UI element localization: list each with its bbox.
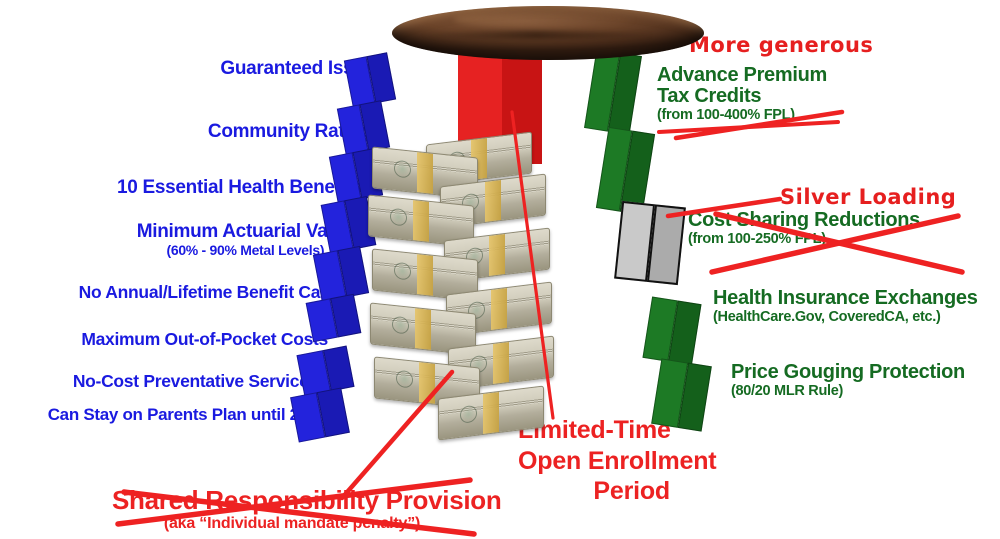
benefit-max-out-of-pocket: Maximum Out-of-Pocket Costs — [81, 330, 328, 348]
annotation-more-generous: More generous — [689, 34, 873, 56]
benefit-label: No Annual/Lifetime Benefit Caps — [79, 282, 340, 302]
benefit-label: Minimum Actuarial Value — [137, 221, 354, 242]
benefit-essential-health-benefits: 10 Essential Health Benefits — [117, 178, 362, 198]
pillar-cost-sharing-reductions: Cost Sharing Reductions (from 100-250% F… — [688, 210, 920, 247]
shared-responsibility-line2: (aka “Individual mandate penalty”) — [112, 516, 472, 533]
green-leg-segment — [651, 358, 712, 431]
blue-leg-segment — [344, 52, 396, 108]
annotation-shared-responsibility: Shared Responsibility Provision (aka “In… — [112, 487, 472, 533]
benefit-no-benefit-caps: No Annual/Lifetime Benefit Caps — [79, 283, 340, 301]
open-enrollment-line3: Period — [518, 476, 670, 507]
green-leg-segment — [584, 49, 642, 135]
cash-bundle-stack — [368, 138, 564, 434]
annotation-label: Silver Loading — [780, 185, 956, 209]
benefit-label: No-Cost Preventative Services — [73, 371, 318, 391]
pillar-advance-premium-tax-credits: Advance Premium Tax Credits (from 100-40… — [657, 65, 827, 123]
pillar-label-line1: Price Gouging Protection — [731, 361, 965, 383]
annotation-label: More generous — [689, 33, 873, 57]
benefit-label: 10 Essential Health Benefits — [117, 177, 362, 198]
blue-leg-segment — [306, 294, 362, 343]
silver-loading-block — [614, 201, 686, 285]
pillar-health-insurance-exchanges: Health Insurance Exchanges (HealthCare.G… — [713, 288, 978, 325]
benefit-label: Maximum Out-of-Pocket Costs — [81, 329, 328, 349]
benefit-label: Can Stay on Parents Plan until 26 — [48, 405, 308, 424]
blue-leg-segment — [296, 346, 354, 397]
pillar-label-line1: Cost Sharing Reductions — [688, 209, 920, 231]
stool-seat — [392, 6, 704, 60]
pillar-label-line1: Health Insurance Exchanges — [713, 287, 978, 309]
pillar-sublabel-struck: (from 100-250% FPL) — [688, 232, 920, 247]
annotation-silver-loading: Silver Loading — [780, 186, 956, 208]
benefit-parents-plan-26: Can Stay on Parents Plan until 26 — [48, 406, 308, 424]
pillar-sublabel-struck: (from 100-400% FPL) — [657, 108, 827, 123]
pillar-label-line2: Tax Credits — [657, 86, 827, 107]
pillar-label-line1: Advance Premium — [657, 64, 827, 86]
open-enrollment-line2: Open Enrollment — [518, 446, 670, 477]
infographic-canvas: Guaranteed Issue Community Rating 10 Ess… — [0, 0, 1000, 539]
blue-leg-segment — [313, 246, 369, 302]
strike-line-tax-credits-a — [659, 122, 838, 132]
shared-responsibility-line1: Shared Responsibility Provision — [112, 487, 472, 514]
blue-leg-segment — [290, 387, 350, 442]
green-leg-segment — [642, 296, 701, 365]
pillar-price-gouging-protection: Price Gouging Protection (80/20 MLR Rule… — [731, 362, 965, 399]
pillar-sublabel: (80/20 MLR Rule) — [731, 384, 965, 399]
pillar-sublabel: (HealthCare.Gov, CoveredCA, etc.) — [713, 310, 978, 325]
benefit-preventative-services: No-Cost Preventative Services — [73, 372, 318, 390]
